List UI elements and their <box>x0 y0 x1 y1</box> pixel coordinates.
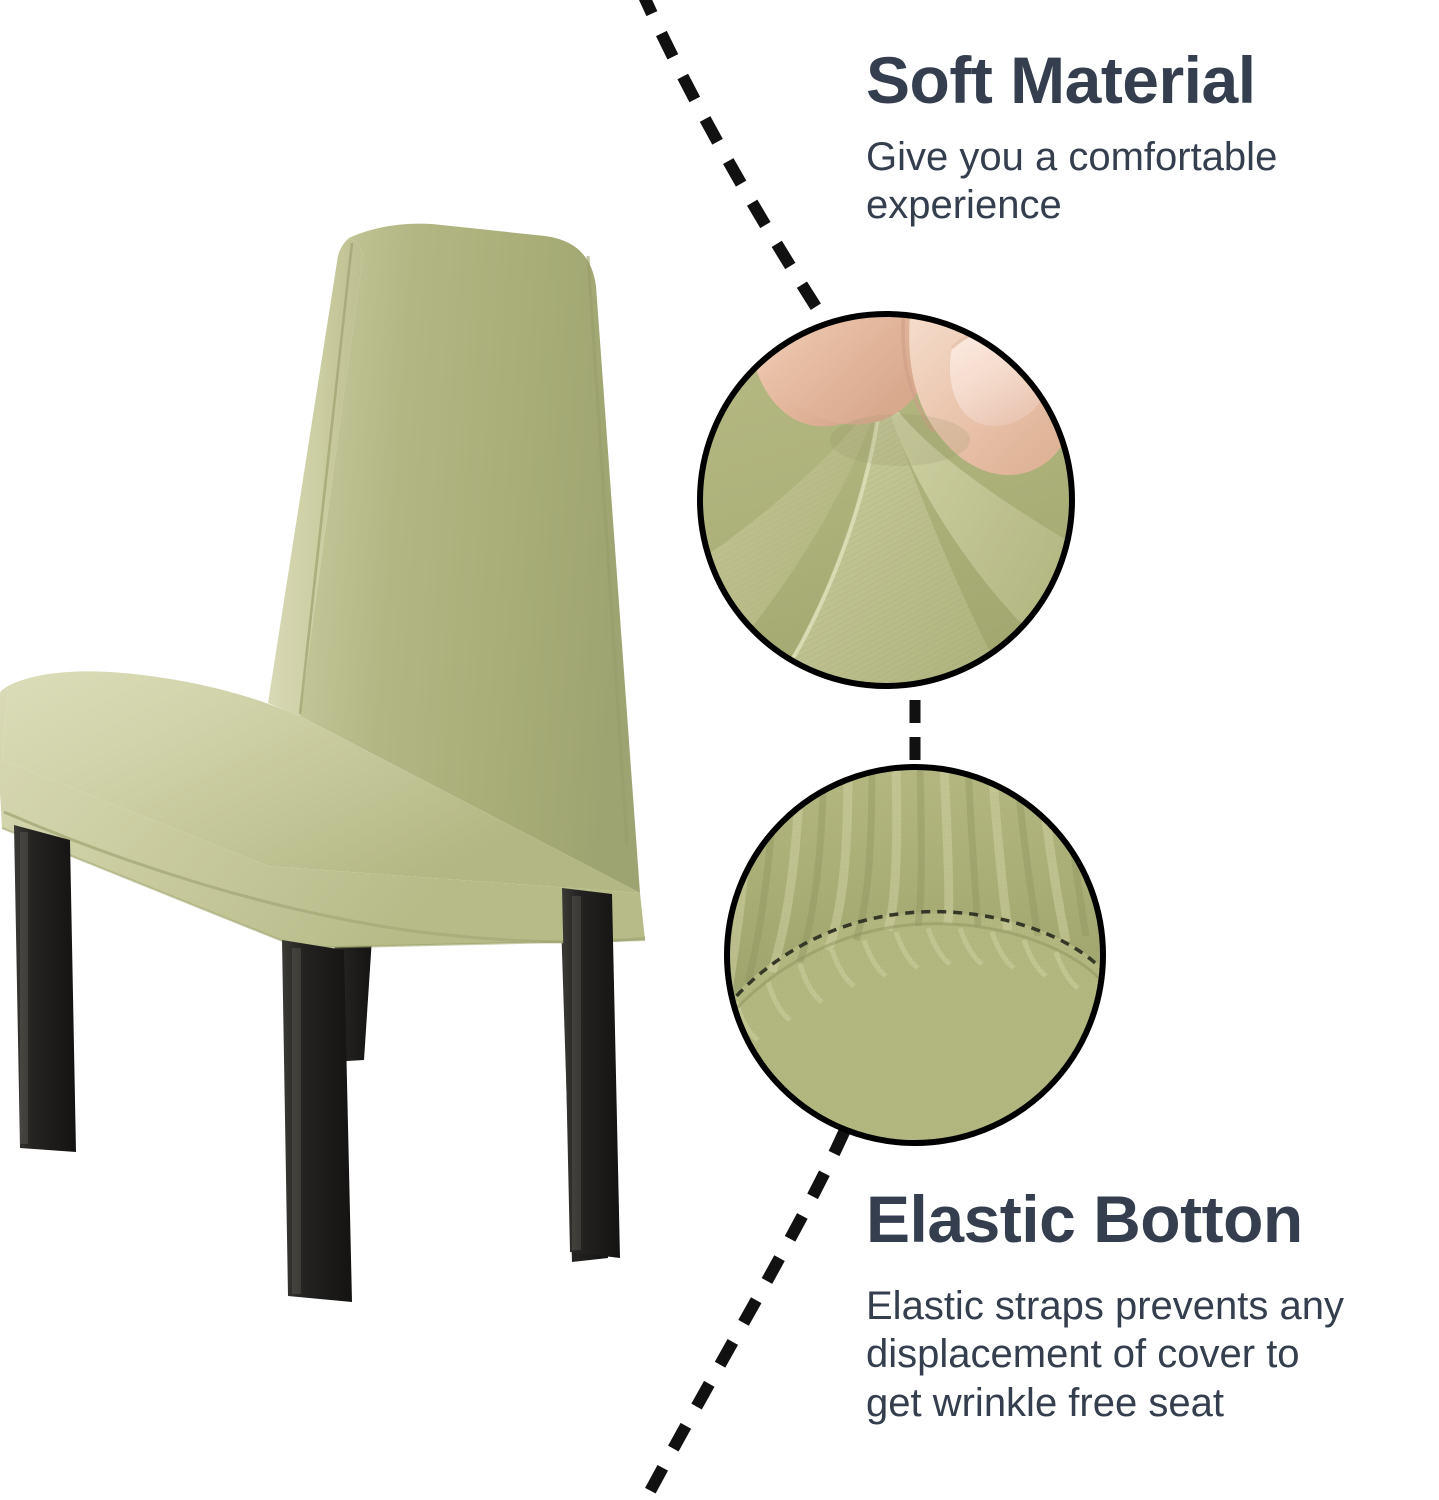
feature-title-soft-material: Soft Material <box>866 46 1406 115</box>
feature-block-elastic-bottom: Elastic Botton Elastic straps prevents a… <box>866 1185 1426 1428</box>
feature-title-elastic-bottom: Elastic Botton <box>866 1185 1426 1254</box>
feature-body-line: experience <box>866 183 1062 227</box>
feature-body-line: displacement of cover to <box>866 1332 1300 1376</box>
product-infographic: Soft Material Give you a comfortable exp… <box>0 0 1439 1500</box>
chair-illustration <box>0 224 645 1302</box>
dashed-guide-curve <box>640 0 845 1500</box>
fabric-pinch-closeup <box>698 294 1076 690</box>
chair-leg-back-right <box>562 888 620 1258</box>
feature-block-soft-material: Soft Material Give you a comfortable exp… <box>866 46 1406 230</box>
feature-body-soft-material: Give you a comfortable experience <box>866 133 1406 231</box>
feature-body-elastic-bottom: Elastic straps prevents any displacement… <box>866 1282 1426 1428</box>
feature-body-line: Elastic straps prevents any <box>866 1284 1344 1328</box>
feature-body-line: Give you a comfortable <box>866 135 1277 179</box>
elastic-hem-closeup <box>726 766 1106 1146</box>
feature-body-line: get wrinkle free seat <box>866 1381 1224 1425</box>
